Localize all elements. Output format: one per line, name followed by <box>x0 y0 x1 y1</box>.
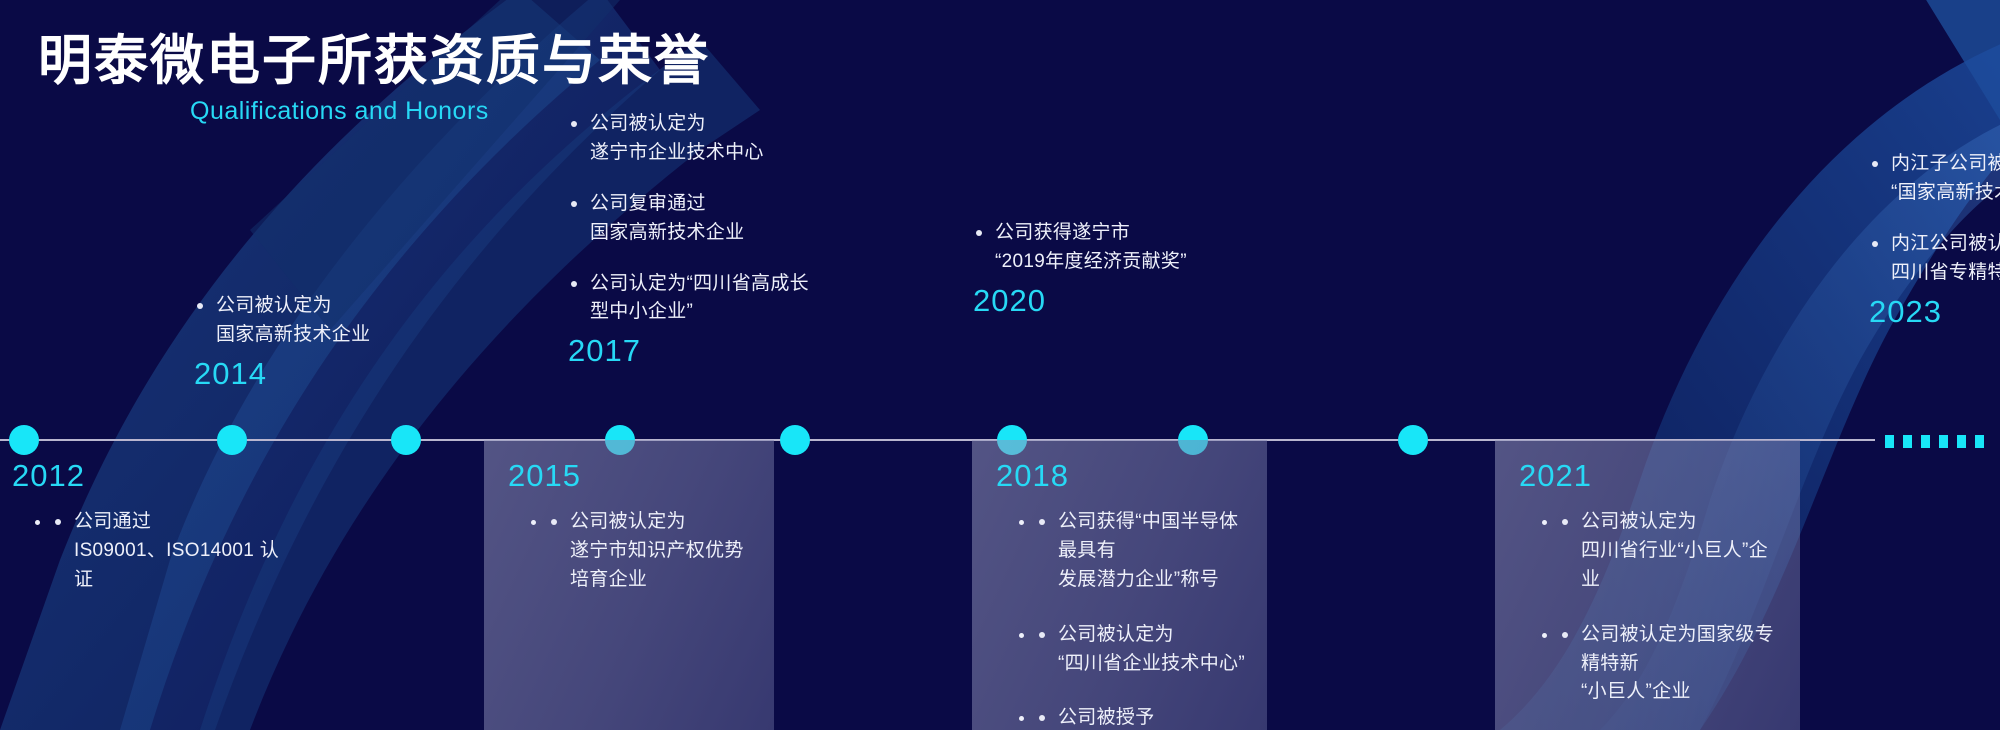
year-label-2014: 2014 <box>194 356 464 392</box>
list-item: 公司被认定为 四川省行业“小巨人”企业 <box>1559 508 1786 595</box>
list-item: 公司被认定为 遂宁市知识产权优势培育企业 <box>548 508 760 595</box>
milestone-list-2021: 公司被认定为 四川省行业“小巨人”企业 公司被认定为国家级专精特新 “小巨人”企… <box>1519 508 1786 707</box>
year-label-2018: 2018 <box>996 458 1267 494</box>
milestone-line2: “四川省企业技术中心” <box>1058 650 1253 679</box>
milestone-line1: 公司通过 <box>74 511 151 532</box>
timeline-entry-2017[interactable]: 公司被认定为 遂宁市企业技术中心 公司复审通过 国家高新技术企业 公司认定为“四… <box>568 110 868 369</box>
list-item: 公司被认定为国家级专精特新 “小巨人”企业 <box>1559 621 1786 708</box>
milestone-line2: 遂宁市知识产权优势培育企业 <box>570 537 760 595</box>
milestone-line1: 公司被授予 <box>1058 707 1155 728</box>
milestone-line2: “国家高新技术企业” <box>1891 179 2000 208</box>
list-item: 公司被认定为 遂宁市企业技术中心 <box>568 110 868 168</box>
list-item: 公司认定为“四川省高成长 型中小企业” <box>568 270 868 328</box>
timeline-dot-2015[interactable] <box>391 425 421 455</box>
list-item: 公司被授予 “遂宁市优秀民营企业”称号 <box>1036 704 1253 730</box>
milestone-line2: 型中小企业” <box>590 298 868 327</box>
timeline-entry-2014[interactable]: 公司被认定为 国家高新技术企业 2014 <box>194 292 464 392</box>
timeline-entry-2012[interactable]: 2012 公司通过 IS09001、ISO14001 认证 <box>0 440 300 595</box>
list-item: 公司通过 IS09001、ISO14001 认证 <box>52 508 294 595</box>
year-label-2023: 2023 <box>1869 294 2000 330</box>
list-item: 公司获得“中国半导体最具有 发展潜力企业”称号 <box>1036 508 1253 595</box>
milestone-line2: 遂宁市企业技术中心 <box>590 139 868 168</box>
milestone-line2: 国家高新技术企业 <box>590 219 868 248</box>
milestone-line2: 国家高新技术企业 <box>216 321 464 350</box>
milestone-line1: 公司被认定为 <box>1058 624 1174 645</box>
milestone-line1: 公司被认定为 <box>1581 511 1697 532</box>
milestone-line2: 四川省专精特新企业 <box>1891 259 2000 288</box>
year-label-2017: 2017 <box>568 333 868 369</box>
timeline-entry-2023[interactable]: 内江子公司被认定为 “国家高新技术企业” 内江公司被认定为 四川省专精特新企业 … <box>1869 150 2000 330</box>
milestone-line1: 公司被认定为 <box>216 295 332 316</box>
list-item: 公司被认定为 国家高新技术企业 <box>194 292 464 350</box>
timeline-entry-2021[interactable]: 2021 公司被认定为 四川省行业“小巨人”企业 公司被认定为国家级专精特新 “… <box>1495 440 1800 730</box>
milestone-line2: 发展潜力企业”称号 <box>1058 566 1253 595</box>
milestone-line2: 四川省行业“小巨人”企业 <box>1581 537 1786 595</box>
milestone-line1: 公司被认定为国家级专精特新 <box>1581 624 1774 674</box>
year-label-2015: 2015 <box>508 458 774 494</box>
year-label-2012: 2012 <box>12 458 300 494</box>
timeline-entry-2015[interactable]: 2015 公司被认定为 遂宁市知识产权优势培育企业 <box>484 440 774 730</box>
milestone-line1: 公司获得“中国半导体最具有 <box>1058 511 1238 561</box>
slide-canvas: 明泰微电子所获资质与荣誉 Qualifications and Honors 公… <box>0 0 2000 730</box>
milestone-list-2023: 内江子公司被认定为 “国家高新技术企业” 内江公司被认定为 四川省专精特新企业 <box>1869 150 2000 288</box>
milestone-list-2017: 公司被认定为 遂宁市企业技术中心 公司复审通过 国家高新技术企业 公司认定为“四… <box>568 110 868 327</box>
milestone-list-2018: 公司获得“中国半导体最具有 发展潜力企业”称号 公司被认定为 “四川省企业技术中… <box>996 508 1253 730</box>
milestone-list-2015: 公司被认定为 遂宁市知识产权优势培育企业 <box>508 508 760 595</box>
milestone-line1: 公司认定为“四川省高成长 <box>590 273 809 294</box>
list-item: 公司获得遂宁市 “2019年度经济贡献奖” <box>973 219 1253 277</box>
list-item: 内江公司被认定为 四川省专精特新企业 <box>1869 230 2000 288</box>
timeline-entry-2020[interactable]: 公司获得遂宁市 “2019年度经济贡献奖” 2020 <box>973 219 1253 319</box>
list-item: 公司被认定为 “四川省企业技术中心” <box>1036 621 1253 679</box>
milestone-list-2020: 公司获得遂宁市 “2019年度经济贡献奖” <box>973 219 1253 277</box>
milestone-line2: “小巨人”企业 <box>1581 678 1786 707</box>
year-label-2020: 2020 <box>973 283 1253 319</box>
milestone-list-2014: 公司被认定为 国家高新技术企业 <box>194 292 464 350</box>
page-title: 明泰微电子所获资质与荣誉 <box>38 32 710 91</box>
milestone-line1: 公司复审通过 <box>590 193 706 214</box>
timeline-dot-2023[interactable] <box>1398 425 1428 455</box>
year-label-2021: 2021 <box>1519 458 1800 494</box>
list-item: 内江子公司被认定为 “国家高新技术企业” <box>1869 150 2000 208</box>
milestone-line2: IS09001、ISO14001 认证 <box>74 537 294 595</box>
timeline-dot-2018[interactable] <box>780 425 810 455</box>
milestone-line1: 公司获得遂宁市 <box>995 222 1130 243</box>
milestone-line1: 内江公司被认定为 <box>1891 233 2000 254</box>
timeline-entry-2018[interactable]: 2018 公司获得“中国半导体最具有 发展潜力企业”称号 公司被认定为 “四川省… <box>972 440 1267 730</box>
milestone-line1: 内江子公司被认定为 <box>1891 153 2000 174</box>
milestone-line1: 公司被认定为 <box>570 511 686 532</box>
milestone-line2: “2019年度经济贡献奖” <box>995 248 1253 277</box>
milestone-line1: 公司被认定为 <box>590 113 706 134</box>
timeline-axis-dashes <box>1885 435 1984 448</box>
milestone-list-2012: 公司通过 IS09001、ISO14001 认证 <box>12 508 294 595</box>
list-item: 公司复审通过 国家高新技术企业 <box>568 190 868 248</box>
